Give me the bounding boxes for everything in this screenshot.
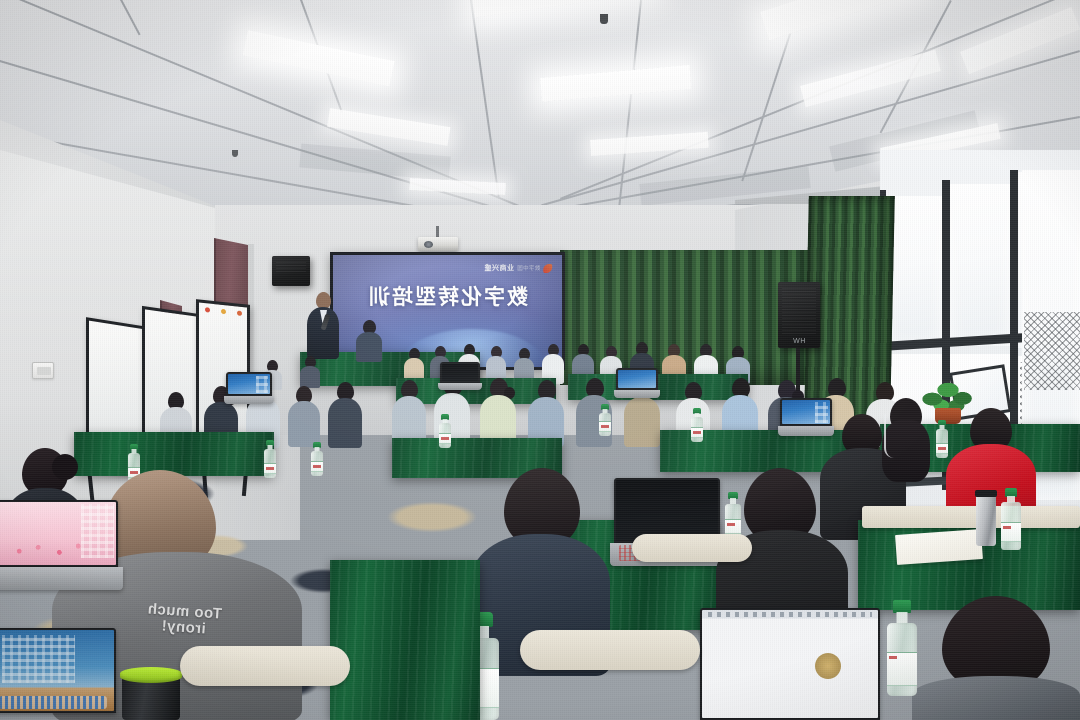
steel-tumbler[interactable] [976, 494, 996, 546]
laptop[interactable] [226, 372, 272, 404]
window-pane [950, 184, 1010, 346]
laptop-lid [0, 500, 118, 567]
laptop-lid [226, 372, 272, 396]
ceiling-projector [418, 237, 458, 251]
hair-bun [52, 454, 78, 480]
thermos-flask[interactable] [122, 676, 180, 720]
attendee [480, 378, 516, 444]
attendee-bottom-right [912, 596, 1080, 720]
water-bottle[interactable] [438, 414, 452, 448]
laptop-lid [0, 628, 116, 713]
table-cushion [520, 630, 700, 670]
laptop-lid [440, 362, 480, 383]
ceiling-sensor-icon [232, 150, 238, 157]
attendee [288, 386, 320, 444]
magnet-icon [221, 309, 226, 315]
bottle-label [599, 421, 611, 432]
laptop[interactable] [616, 368, 658, 398]
bottle-label [439, 433, 451, 444]
attendee [328, 382, 362, 444]
laptop-base[interactable] [224, 396, 274, 404]
laptop-base[interactable] [438, 383, 481, 390]
laptop-flower-wallpaper[interactable] [0, 500, 118, 590]
laptop-lid [700, 608, 880, 720]
laptop-lid [616, 368, 658, 390]
water-bottle[interactable] [598, 404, 612, 436]
bottle-label [311, 461, 323, 472]
laptop-base[interactable] [614, 390, 659, 398]
laptop-front-document[interactable] [700, 608, 880, 720]
power-cable [884, 414, 914, 458]
thermos-lid[interactable] [120, 667, 182, 683]
table-cushion [632, 534, 752, 562]
ceiling-sensor-icon [600, 14, 608, 24]
training-room-photo: HW 数字化转型培训 数字中国 业商兴盛 [0, 0, 1080, 720]
bottle-label [691, 427, 703, 438]
table-cushion [862, 506, 1080, 528]
torso [912, 676, 1080, 720]
laptop-base[interactable] [0, 567, 123, 590]
laptop[interactable] [440, 362, 480, 390]
attendee [528, 380, 564, 444]
table-cushion [180, 646, 350, 686]
water-bottle[interactable] [310, 442, 324, 476]
water-bottle[interactable] [1000, 488, 1022, 550]
dock-icon-row[interactable] [0, 696, 107, 709]
bottle-label [887, 652, 917, 686]
laptop-mac-desktop[interactable] [0, 628, 116, 720]
wall-speaker-left [272, 256, 310, 286]
front-table-left-center [330, 560, 480, 720]
attendee [392, 380, 426, 444]
notepad[interactable] [895, 529, 983, 565]
water-bottle[interactable] [690, 408, 704, 442]
magnet-icon [237, 310, 242, 316]
magnet-icon [205, 307, 210, 313]
bottle-label [1001, 522, 1021, 542]
water-bottle[interactable] [886, 600, 918, 696]
tumbler-lid [975, 490, 997, 497]
